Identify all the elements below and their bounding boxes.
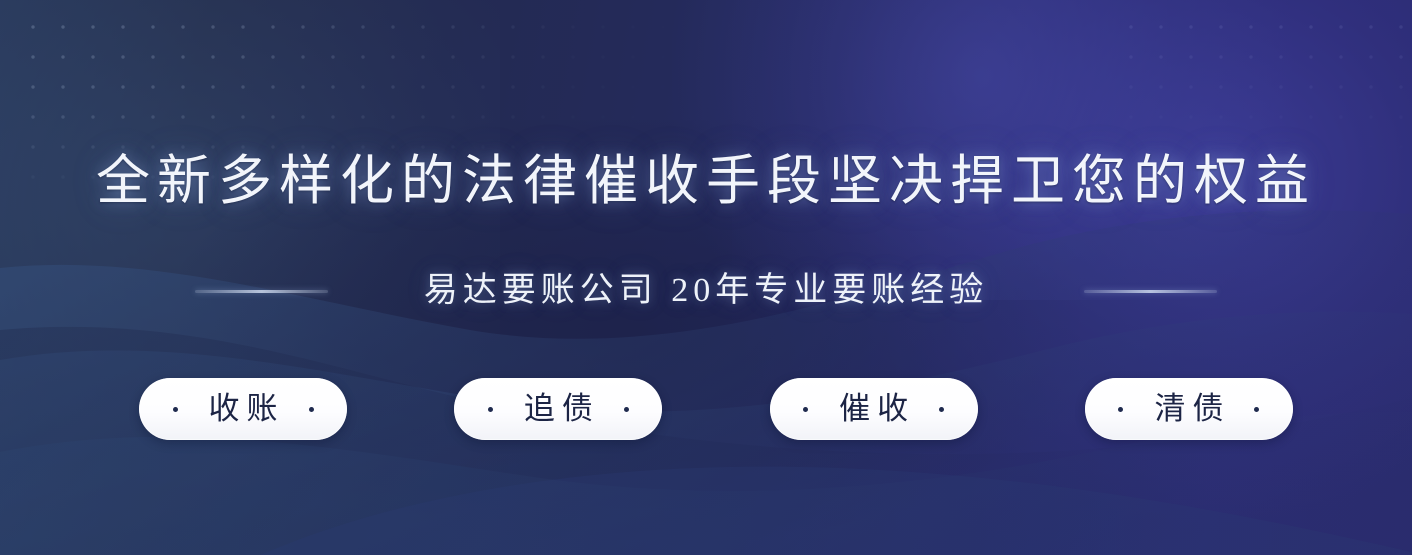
service-pill-label: 追债 <box>517 391 600 427</box>
service-pill-shouzhang[interactable]: 收账 <box>139 378 347 440</box>
service-pill-group: 收账 追债 催收 清债 <box>139 378 1293 440</box>
service-pill-zhuizhai[interactable]: 追债 <box>454 378 662 440</box>
bullet-dot-icon <box>803 407 808 412</box>
page-title: 全新多样化的法律催收手段坚决捍卫您的权益 <box>0 148 1412 214</box>
bullet-dot-icon <box>939 407 944 412</box>
service-pill-cuishou[interactable]: 催收 <box>770 378 978 440</box>
banner-content: 全新多样化的法律催收手段坚决捍卫您的权益 易达要账公司 20年专业要账经验 收账… <box>0 0 1412 555</box>
bullet-dot-icon <box>624 407 629 412</box>
subtitle: 易达要账公司 20年专业要账经验 <box>424 268 989 314</box>
subtitle-row: 易达要账公司 20年专业要账经验 <box>0 268 1412 314</box>
bullet-dot-icon <box>309 407 314 412</box>
bullet-dot-icon <box>488 407 493 412</box>
bullet-dot-icon <box>1254 407 1259 412</box>
bullet-dot-icon <box>173 407 178 412</box>
bullet-dot-icon <box>1118 407 1123 412</box>
service-pill-label: 清债 <box>1147 391 1230 427</box>
service-pill-label: 收账 <box>202 391 285 427</box>
rule-right <box>1084 290 1217 293</box>
rule-left <box>195 290 328 293</box>
promo-banner: 全新多样化的法律催收手段坚决捍卫您的权益 易达要账公司 20年专业要账经验 收账… <box>0 0 1412 555</box>
service-pill-qingzhai[interactable]: 清债 <box>1085 378 1293 440</box>
service-pill-label: 催收 <box>832 391 915 427</box>
